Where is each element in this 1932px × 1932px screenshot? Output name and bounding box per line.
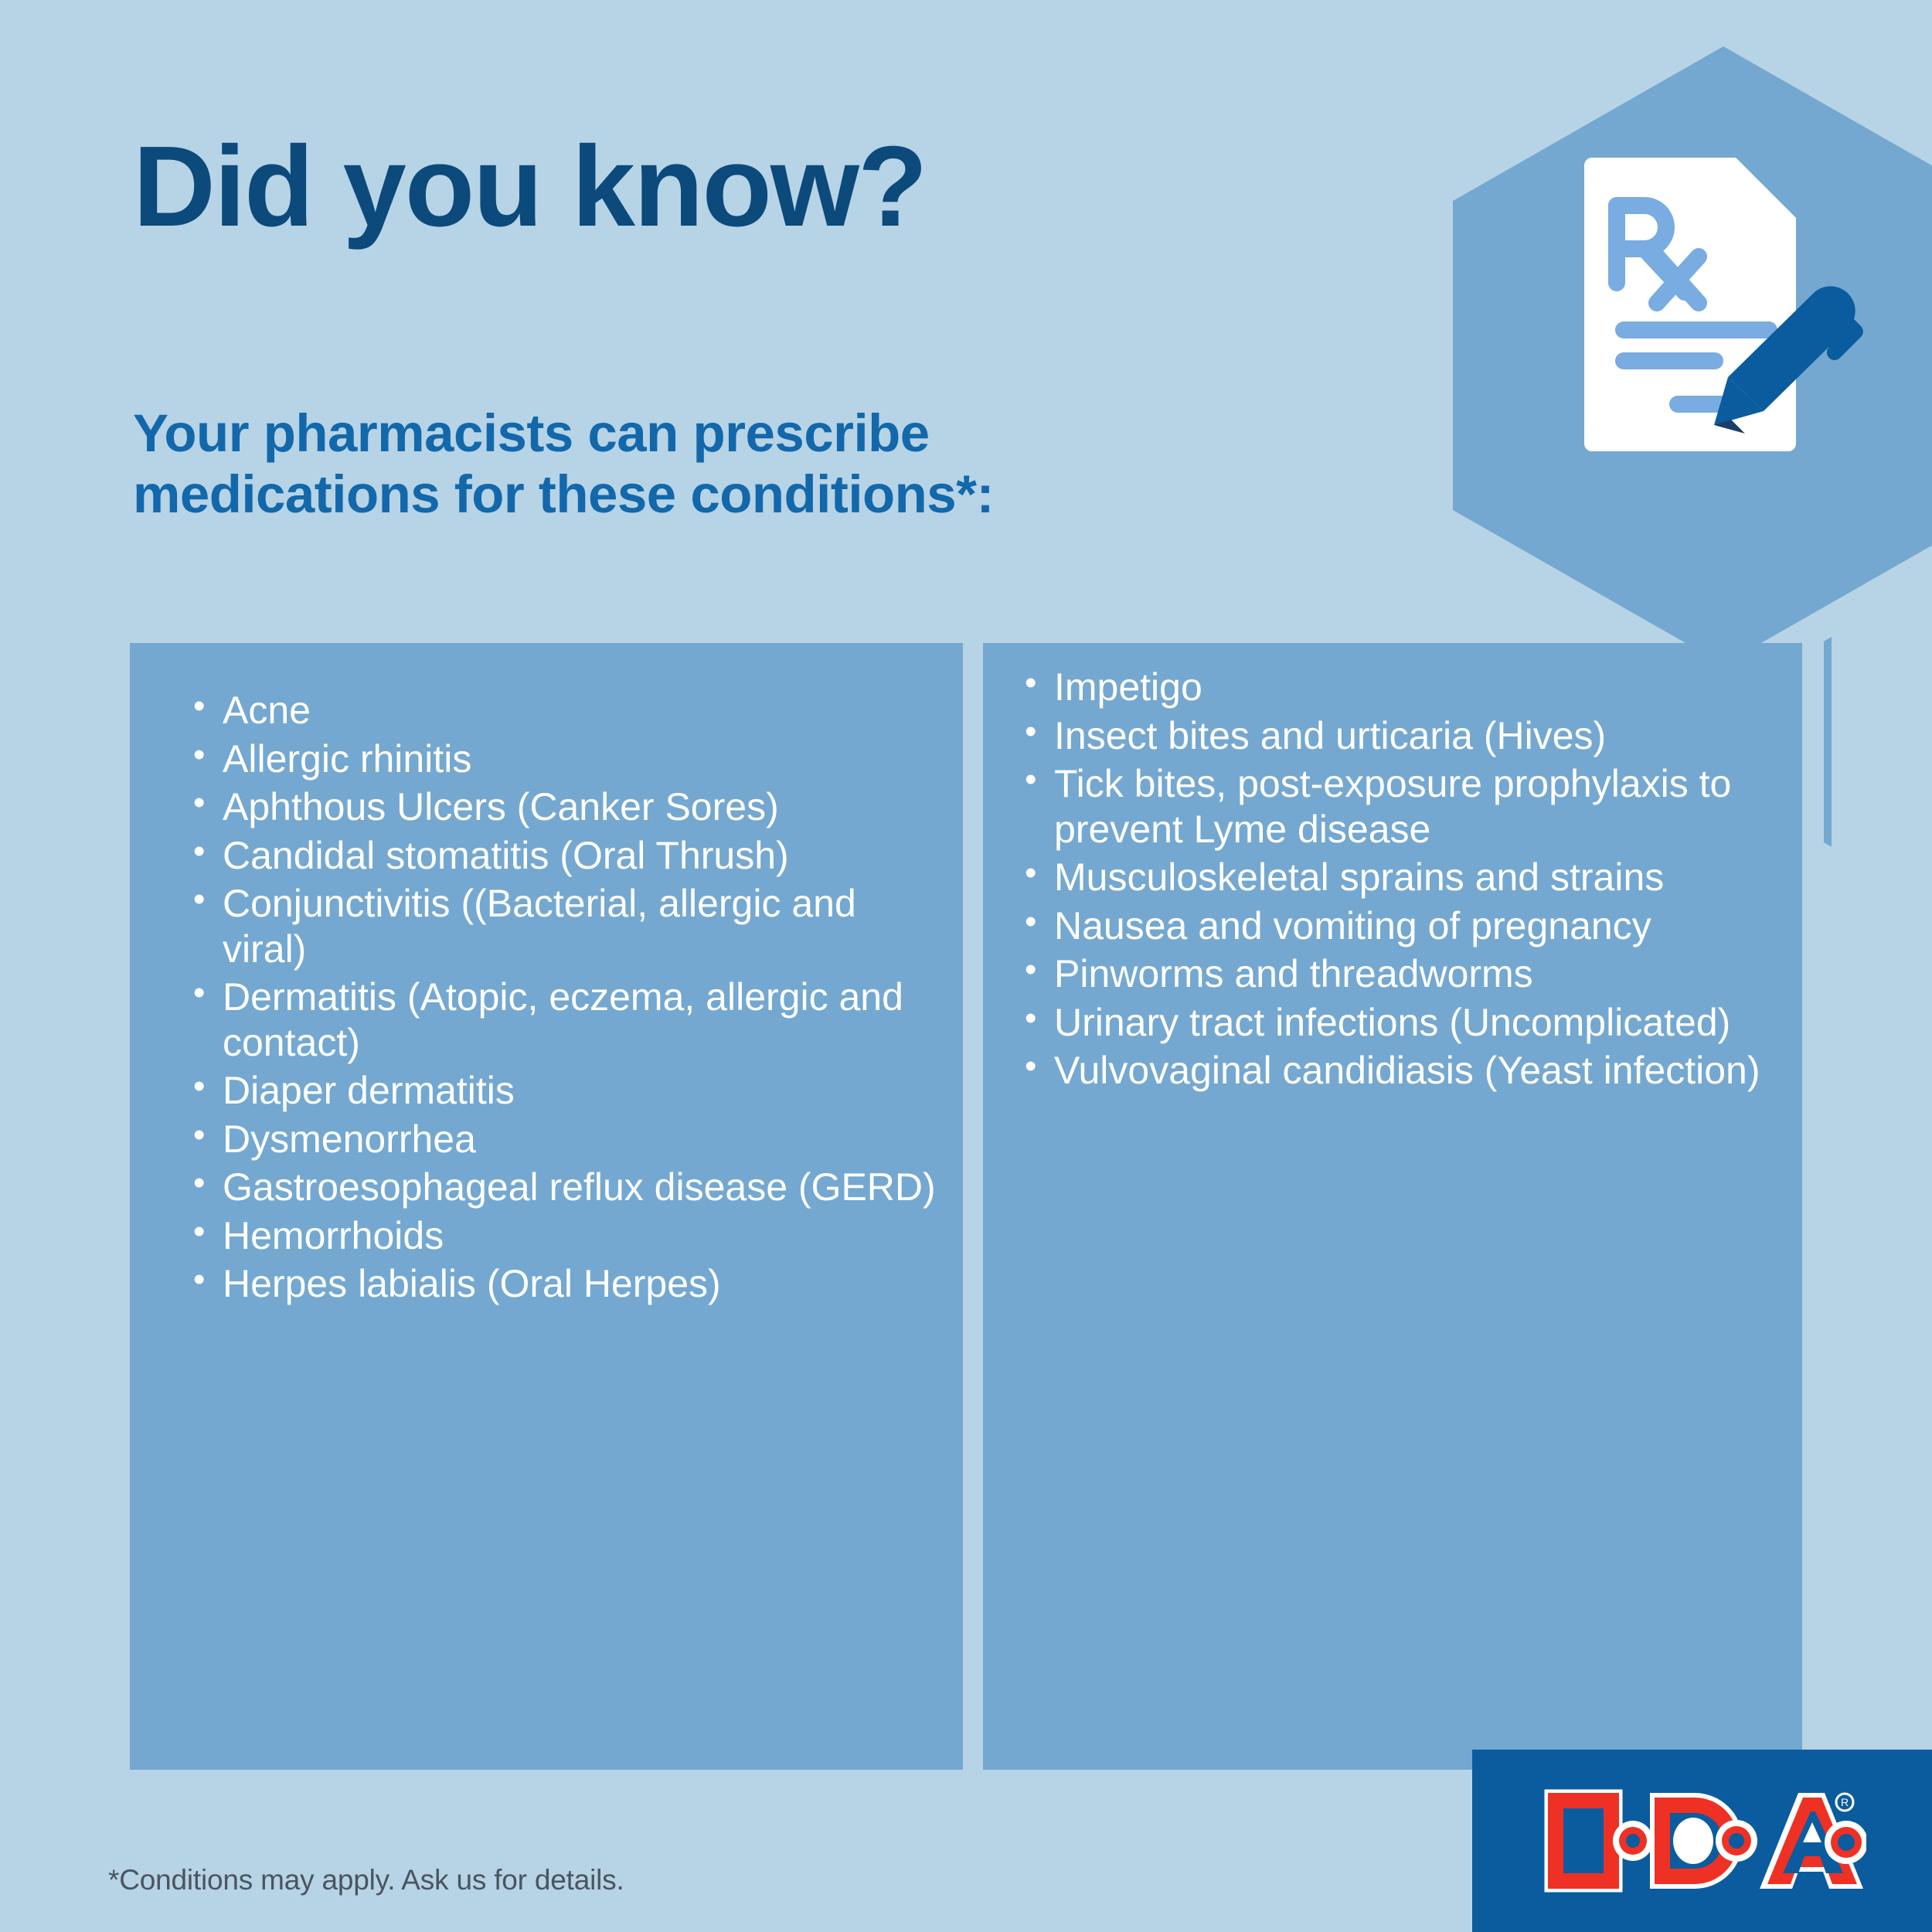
- subtitle-line-1: Your pharmacists can prescribe: [133, 403, 994, 464]
- condition-list-item: Acne: [190, 688, 940, 733]
- page-title: Did you know?: [133, 130, 926, 244]
- page-subtitle: Your pharmacists can prescribe medicatio…: [133, 403, 994, 525]
- conditions-panel-left: AcneAllergic rhinitisAphthous Ulcers (Ca…: [130, 643, 963, 1770]
- condition-list-item: Herpes labialis (Oral Herpes): [190, 1261, 940, 1307]
- condition-list-item: Conjunctivitis ((Bacterial, allergic and…: [190, 881, 940, 971]
- condition-list-item: Urinary tract infections (Uncomplicated): [1022, 1000, 1787, 1046]
- condition-list-item: Aphthous Ulcers (Canker Sores): [190, 784, 940, 830]
- brand-logo-block: R: [1472, 1750, 1932, 1932]
- footnote-disclaimer: *Conditions may apply. Ask us for detail…: [108, 1864, 624, 1896]
- condition-list-item: Insect bites and urticaria (Hives): [1022, 713, 1787, 759]
- condition-list-item: Vulvovaginal candidiasis (Yeast infectio…: [1022, 1048, 1787, 1094]
- conditions-panel-right: ImpetigoInsect bites and urticaria (Hive…: [983, 643, 1802, 1770]
- ida-logo-icon: R: [1542, 1779, 1866, 1903]
- condition-list-item: Pinworms and threadworms: [1022, 951, 1787, 997]
- condition-list-item: Allergic rhinitis: [190, 736, 940, 782]
- condition-list-item: Hemorrhoids: [190, 1213, 940, 1259]
- svg-text:R: R: [1841, 1796, 1849, 1808]
- condition-list-item: Candidal stomatitis (Oral Thrush): [190, 833, 940, 879]
- condition-list-item: Tick bites, post-exposure prophylaxis to…: [1022, 761, 1787, 852]
- condition-list-item: Diaper dermatitis: [190, 1068, 940, 1114]
- hexagon-outline-icon: [1824, 541, 1932, 943]
- condition-list-item: Musculoskeletal sprains and strains: [1022, 855, 1787, 900]
- conditions-list-right: ImpetigoInsect bites and urticaria (Hive…: [983, 643, 1802, 1094]
- condition-list-item: Gastroesophageal reflux disease (GERD): [190, 1165, 940, 1210]
- infographic-poster: Did you know? Your pharmacists can presc…: [0, 0, 1932, 1932]
- hexagon-outline-fill: [1832, 549, 1932, 920]
- conditions-list-left: AcneAllergic rhinitisAphthous Ulcers (Ca…: [130, 643, 963, 1307]
- subtitle-line-2: medications for these conditions*:: [133, 464, 994, 526]
- condition-list-item: Impetigo: [1022, 665, 1787, 710]
- condition-list-item: Dysmenorrhea: [190, 1117, 940, 1162]
- condition-list-item: Dermatitis (Atopic, eczema, allergic and…: [190, 975, 940, 1065]
- prescription-document-with-pen-icon: [1577, 155, 1878, 464]
- condition-list-item: Nausea and vomiting of pregnancy: [1022, 903, 1787, 949]
